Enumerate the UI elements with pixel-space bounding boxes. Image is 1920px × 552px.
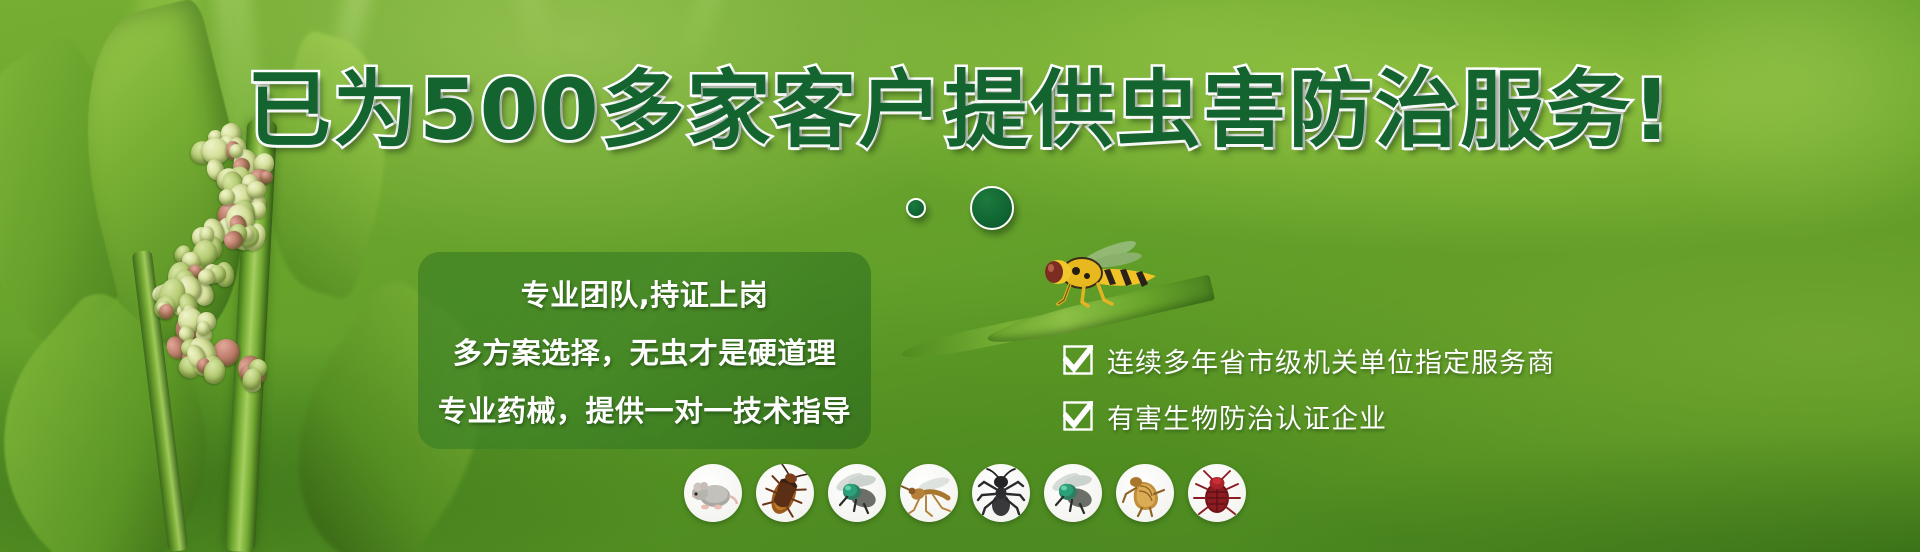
selling-points-text: 专业团队,持证上岗 多方案选择，无虫才是硬道理 专业药械，提供一对一技术指导 (418, 252, 871, 449)
headline-text: 已为500多家客户提供虫害防治服务! (247, 68, 1673, 152)
bedbug-icon (1188, 464, 1246, 522)
selling-point-line-2: 多方案选择，无虫才是硬道理 (453, 330, 837, 372)
dot-large-icon (970, 186, 1014, 230)
decorative-dots (0, 186, 1920, 230)
selling-point-line-1: 专业团队,持证上岗 (521, 272, 769, 314)
certification-text: 连续多年省市级机关单位指定服务商 (1107, 341, 1555, 380)
hoverfly-icon (1030, 240, 1170, 310)
rat-icon (684, 464, 742, 522)
ant-icon (972, 464, 1030, 522)
certification-list: 连续多年省市级机关单位指定服务商 有害生物防治认证企业 (1063, 332, 1555, 444)
pest-icons-row (684, 464, 1246, 522)
mosquito-icon (900, 464, 958, 522)
cockroach-icon (756, 464, 814, 522)
flea-icon (1116, 464, 1174, 522)
check-box-icon (1063, 401, 1093, 431)
fly-icon-2 (1044, 464, 1102, 522)
dot-small-icon (906, 198, 926, 218)
list-item: 有害生物防治认证企业 (1063, 388, 1555, 444)
fly-icon (828, 464, 886, 522)
certification-text: 有害生物防治认证企业 (1107, 397, 1387, 436)
selling-point-line-3: 专业药械，提供一对一技术指导 (438, 388, 851, 430)
list-item: 连续多年省市级机关单位指定服务商 (1063, 332, 1555, 388)
pest-control-banner: 已为500多家客户提供虫害防治服务! 专业团队,持证上岗 多方案选择，无虫才是硬… (0, 0, 1920, 552)
page-title: 已为500多家客户提供虫害防治服务! (0, 68, 1920, 152)
check-box-icon (1063, 345, 1093, 375)
flower-spike-buds (150, 120, 350, 410)
